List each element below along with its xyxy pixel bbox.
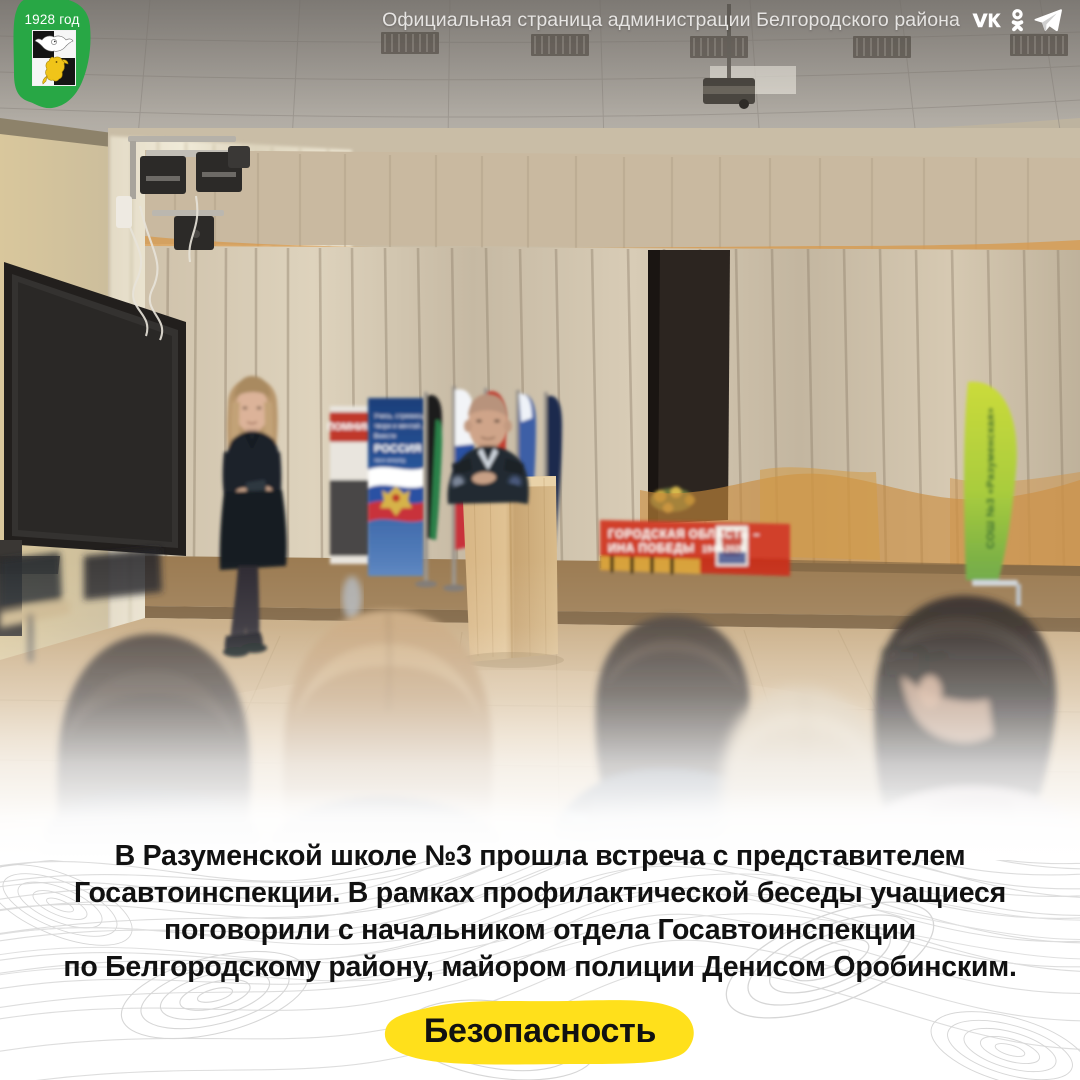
- event-photo: ГОРОДСКАЯ ОБЛАСТЬ – ИНА ПОБЕДЫ 1945-2025…: [0, 0, 1080, 860]
- svg-text:твоя вперёд: твоя вперёд: [374, 458, 406, 464]
- post-caption: В Разуменской школе №3 прошла встреча с …: [0, 838, 1080, 986]
- caption-line-3: поговорили с начальником отдела Госавтои…: [10, 912, 1070, 949]
- svg-text:Вместе: Вместе: [374, 433, 397, 440]
- svg-text:ГОРОДСКАЯ ОБЛАСТЬ –: ГОРОДСКАЯ ОБЛАСТЬ –: [608, 529, 760, 541]
- caption-line-4: по Белгородскому району, майором полиции…: [10, 949, 1070, 986]
- caption-line-1: В Разуменской школе №3 прошла встреча с …: [10, 838, 1070, 875]
- svg-text:ИНА ПОБЕДЫ: ИНА ПОБЕДЫ: [608, 543, 695, 555]
- rollup-banner-russia: Учись, стремись, твори и мечтай... Вмест…: [368, 398, 426, 576]
- svg-text:1945-2025: 1945-2025: [702, 544, 745, 554]
- category-tag[interactable]: Безопасность: [381, 996, 699, 1068]
- tag-label: Безопасность: [381, 996, 699, 1068]
- svg-text:Учись, стремись,: Учись, стремись,: [374, 413, 426, 420]
- vk-icon[interactable]: [971, 11, 1001, 30]
- administration-logo[interactable]: 1928 год: [8, 0, 100, 114]
- stage-banner: ГОРОДСКАЯ ОБЛАСТЬ – ИНА ПОБЕДЫ 1945-2025: [600, 520, 790, 576]
- post-card: ГОРОДСКАЯ ОБЛАСТЬ – ИНА ПОБЕДЫ 1945-2025…: [0, 0, 1080, 1080]
- rollup-banner-red: ПОМНИМ: [327, 406, 373, 564]
- coat-of-arms-icon: [32, 30, 76, 86]
- social-icons: [971, 8, 1062, 32]
- svg-text:твори и мечтай...: твори и мечтай...: [374, 422, 425, 430]
- svg-text:РОССИЯ: РОССИЯ: [374, 443, 422, 455]
- logo-year-label: 1928 год: [8, 12, 96, 27]
- caption-line-2: Госавтоинспекции. В рамках профилактичес…: [10, 875, 1070, 912]
- odnoklassniki-icon[interactable]: [1009, 8, 1026, 32]
- telegram-icon[interactable]: [1034, 8, 1062, 32]
- svg-text:ПОМНИМ: ПОМНИМ: [327, 422, 373, 433]
- header-title: Официальная страница администрации Белго…: [382, 9, 960, 32]
- tag-badge-wrapper: Безопасность: [0, 996, 1080, 1068]
- svg-text:СОШ №3 «Разуменская»: СОШ №3 «Разуменская»: [985, 407, 997, 549]
- page-header: Официальная страница администрации Белго…: [382, 8, 1062, 32]
- podium: [460, 476, 564, 668]
